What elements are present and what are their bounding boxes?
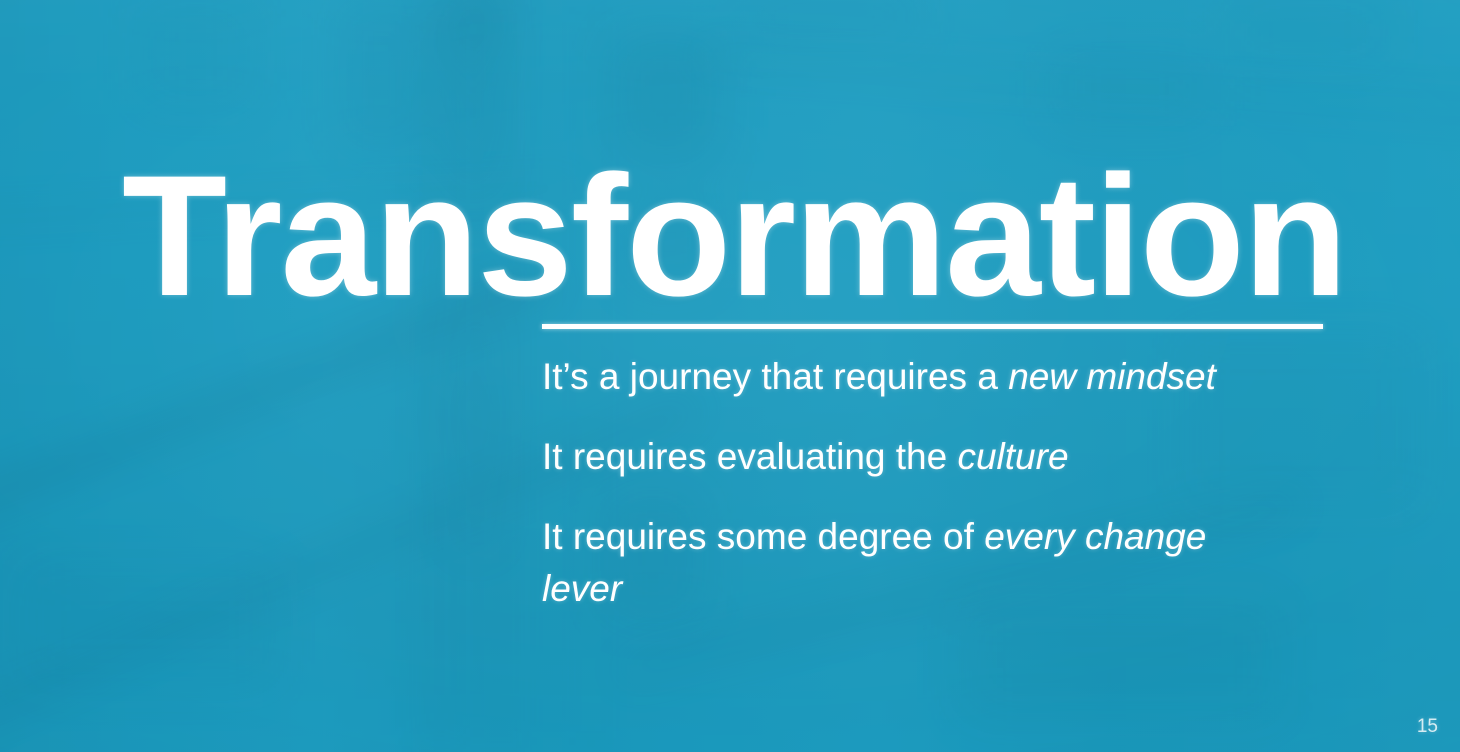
bullet-text-lead: It’s a journey that requires a	[542, 356, 1008, 397]
bullet-text-lead: It requires evaluating the	[542, 436, 957, 477]
slide-title: Transformation	[122, 150, 1346, 322]
bullet-item: It’s a journey that requires a new minds…	[542, 351, 1232, 403]
bullet-list: It’s a journey that requires a new minds…	[542, 351, 1232, 615]
bullet-item: It requires some degree of every change …	[542, 511, 1232, 615]
bullet-text-emphasis: culture	[957, 436, 1068, 477]
presentation-slide: Transformation It’s a journey that requi…	[0, 0, 1460, 752]
title-underline-rule	[542, 324, 1323, 329]
bullet-text-lead: It requires some degree of	[542, 516, 984, 557]
bullet-item: It requires evaluating the culture	[542, 431, 1232, 483]
slide-page-number: 15	[1417, 716, 1438, 738]
slide-content: Transformation It’s a journey that requi…	[0, 0, 1460, 752]
bullet-text-emphasis: new mindset	[1008, 356, 1216, 397]
